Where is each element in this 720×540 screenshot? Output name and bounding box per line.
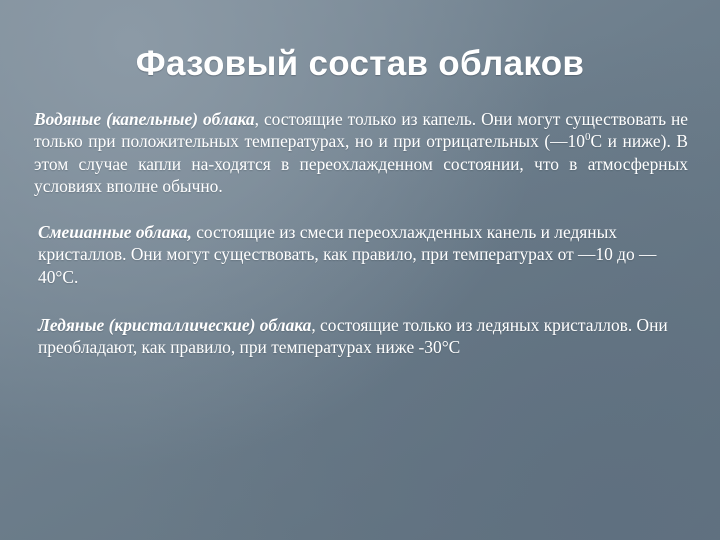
slide: Фазовый состав облаков Водяные (капельны… — [0, 0, 720, 540]
paragraph-1-lead: Водяные (капельные) облака — [34, 109, 255, 129]
paragraph-mixed-clouds: Смешанные облака, состоящие из смеси пер… — [34, 221, 690, 288]
paragraph-2-lead: Смешанные облака, — [38, 222, 192, 242]
paragraph-ice-clouds: Ледяные (кристаллические) облака, состоя… — [34, 314, 690, 359]
paragraph-3-lead: Ледяные (кристаллические) облака — [38, 315, 311, 335]
slide-body: Водяные (капельные) облака, состоящие то… — [34, 108, 690, 358]
paragraph-water-clouds: Водяные (капельные) облака, состоящие то… — [34, 108, 690, 197]
page-title: Фазовый состав облаков — [0, 44, 720, 84]
